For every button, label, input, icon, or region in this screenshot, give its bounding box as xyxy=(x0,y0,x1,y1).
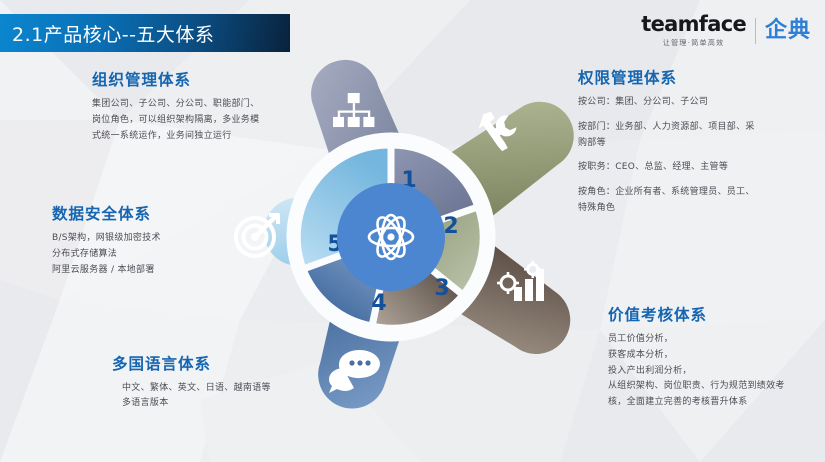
block-value-assessment-paragraph-2: 获客成本分析， xyxy=(608,348,793,364)
block-value-assessment-paragraph-4: 从组织架构、岗位职责、行为规范到绩效考核，全面建立完善的考核晋升体系 xyxy=(608,379,793,411)
block-organization-heading: 组织管理体系 xyxy=(92,68,267,90)
logo-tagline: 让管理·简单高效 xyxy=(663,38,725,48)
slide-canvas: 2.1产品核心--五大体系 teamface 让管理·简单高效 企典 xyxy=(0,0,825,462)
block-value-assessment: 价值考核体系 员工价值分析， 获客成本分析， 投入产出利润分析， 从组织架构、岗… xyxy=(608,303,793,411)
block-data-security-heading: 数据安全体系 xyxy=(52,202,232,224)
slide-title-bar: 2.1产品核心--五大体系 xyxy=(0,14,290,52)
block-multi-language-paragraph-1: 中文、繁体、英文、日语、越南语等多语言版本 xyxy=(112,381,272,412)
logo-divider xyxy=(755,18,756,44)
ring-number-4: 4 xyxy=(371,291,386,316)
block-permission-paragraph-3: 按职务：CEO、总监、经理、主管等 xyxy=(578,160,758,176)
block-organization-paragraph-1: 集团公司、子公司、分公司、职能部门、岗位角色，可以组织架构隔离，多业务模式统一系… xyxy=(92,97,267,144)
block-permission-paragraph-1: 按公司：集团、分公司、子公司 xyxy=(578,95,758,111)
block-data-security-paragraph-3: 阿里云服务器 / 本地部署 xyxy=(52,263,232,279)
block-data-security-paragraph-1: B/S架构，网银级加密技术 xyxy=(52,231,232,247)
block-multi-language-heading: 多国语言体系 xyxy=(112,352,272,374)
block-value-assessment-paragraph-1: 员工价值分析， xyxy=(608,332,793,348)
page-title: 2.1产品核心--五大体系 xyxy=(0,20,214,47)
block-permission-paragraph-4: 按角色：企业所有者、系统管理员、员工、特殊角色 xyxy=(578,185,758,217)
ring-number-2: 2 xyxy=(443,214,458,239)
logo-chinese-name: 企典 xyxy=(765,20,811,42)
block-organization: 组织管理体系 集团公司、子公司、分公司、职能部门、岗位角色，可以组织架构隔离，多… xyxy=(92,68,267,144)
five-systems-diagram: 1 2 3 4 5 xyxy=(215,55,595,420)
block-data-security-paragraph-2: 分布式存储算法 xyxy=(52,247,232,263)
logo-wordmark: teamface 让管理·简单高效 xyxy=(641,14,746,48)
teamface-logo: teamface 让管理·简单高效 企典 xyxy=(641,14,811,48)
logo-brand-text: teamface xyxy=(641,14,746,35)
block-permission-paragraph-2: 按部门：业务部、人力资源部、项目部、采购部等 xyxy=(578,120,758,152)
block-value-assessment-paragraph-3: 投入产出利润分析， xyxy=(608,364,793,380)
block-multi-language: 多国语言体系 中文、繁体、英文、日语、越南语等多语言版本 xyxy=(112,352,272,412)
block-value-assessment-heading: 价值考核体系 xyxy=(608,303,793,325)
ring-number-3: 3 xyxy=(434,276,449,301)
block-data-security: 数据安全体系 B/S架构，网银级加密技术 分布式存储算法 阿里云服务器 / 本地… xyxy=(52,202,232,278)
block-permission: 权限管理体系 按公司：集团、分公司、子公司 按部门：业务部、人力资源部、项目部、… xyxy=(578,66,758,217)
block-permission-heading: 权限管理体系 xyxy=(578,66,758,88)
